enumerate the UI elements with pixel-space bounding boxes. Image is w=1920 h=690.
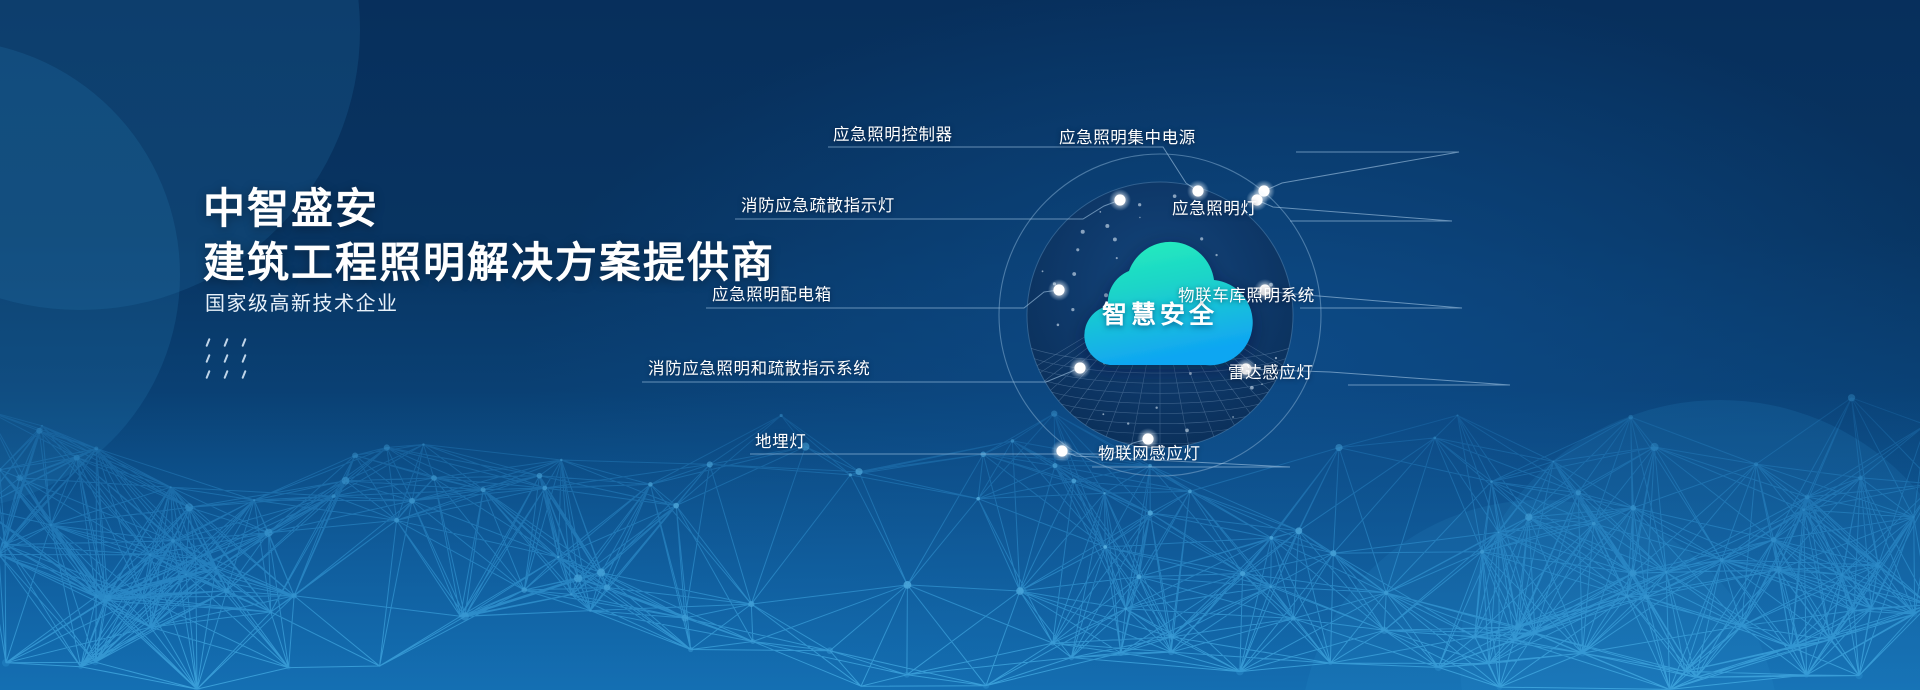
node-label-emergency-lighting-lamp[interactable]: 应急照明灯 [1172, 195, 1258, 219]
subtitle: 国家级高新技术企业 [205, 287, 399, 316]
node-dot-fire-emergency-evacuation-sign-light[interactable] [1114, 194, 1125, 205]
node-label-fire-emergency-lighting-evac-system[interactable]: 消防应急照明和疏散指示系统 [648, 355, 870, 379]
decorative-slash-grid [207, 338, 253, 380]
node-label-emergency-lighting-central-power[interactable]: 应急照明集中电源 [1059, 124, 1196, 148]
headline-block: 中智盛安 建筑工程照明解决方案提供商 [203, 182, 775, 290]
network-mesh-background [0, 360, 1920, 690]
node-dot-iot-sensor-light[interactable] [1056, 445, 1067, 456]
connector-emergency-lighting-controller [828, 147, 1198, 191]
headline-line-1: 中智盛安 [203, 182, 775, 236]
node-label-fire-emergency-evacuation-sign-light[interactable]: 消防应急疏散指示灯 [741, 192, 895, 216]
node-dot-fire-emergency-lighting-evac-system[interactable] [1074, 362, 1085, 373]
connector-emergency-lighting-central-power [1264, 152, 1459, 191]
node-dot-emergency-lighting-central-power[interactable] [1258, 185, 1269, 196]
node-label-emergency-lighting-distribution-box[interactable]: 应急照明配电箱 [712, 281, 832, 305]
node-label-in-ground-buried-light[interactable]: 地埋灯 [755, 428, 806, 452]
node-label-iot-sensor-light[interactable]: 物联网感应灯 [1098, 440, 1201, 464]
node-dot-emergency-lighting-distribution-box[interactable] [1053, 284, 1064, 295]
headline-line-2: 建筑工程照明解决方案提供商 [203, 236, 775, 290]
connector-emergency-lighting-lamp [1257, 200, 1452, 221]
hero-banner: 中智盛安 建筑工程照明解决方案提供商 国家级高新技术企业 [0, 0, 1920, 690]
node-label-iot-garage-lighting-system[interactable]: 物联车库照明系统 [1178, 282, 1315, 306]
node-label-radar-sensor-light[interactable]: 雷达感应灯 [1228, 359, 1314, 383]
node-label-emergency-lighting-controller[interactable]: 应急照明控制器 [833, 121, 953, 145]
